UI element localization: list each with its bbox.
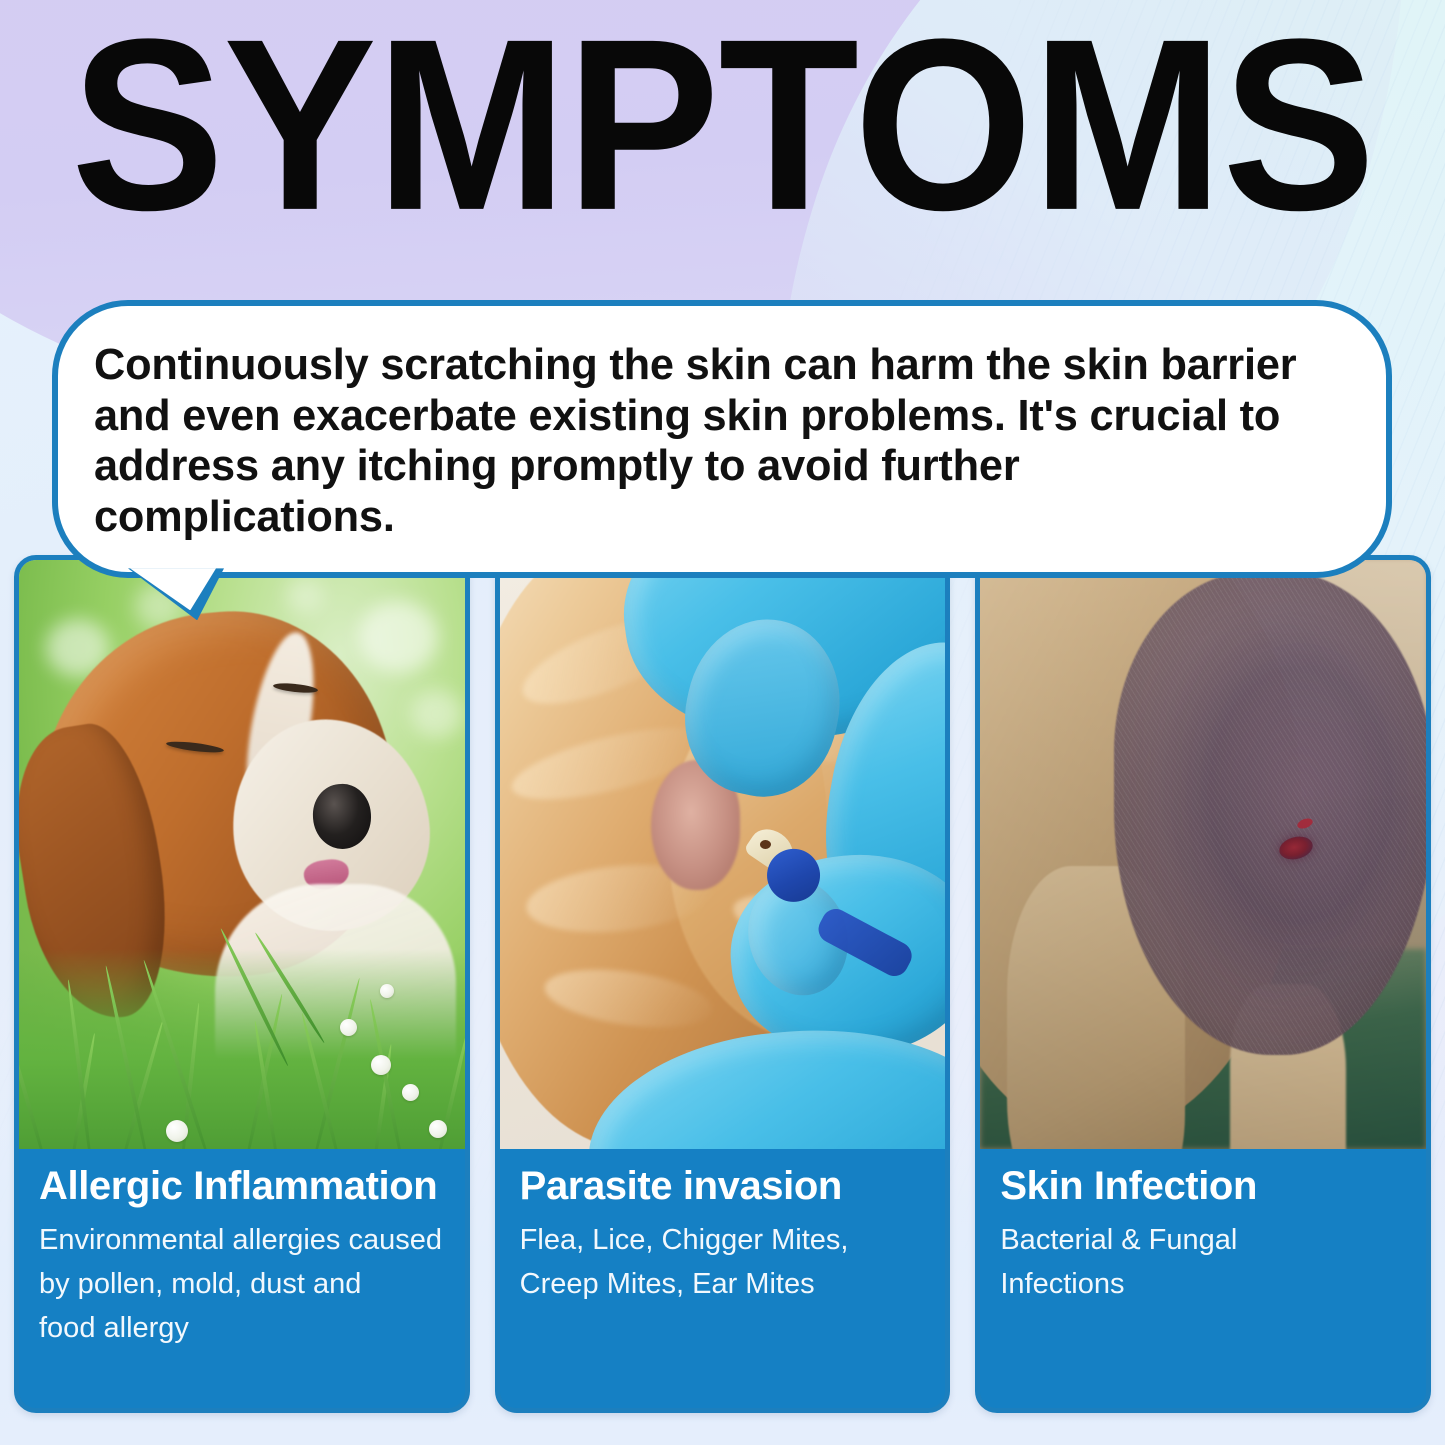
- card-caption-allergic-inflammation: Allergic Inflammation Environmental alle…: [19, 1149, 465, 1408]
- card-caption-parasite-invasion: Parasite invasion Flea, Lice, Chigger Mi…: [500, 1149, 946, 1408]
- symptom-card-parasite-invasion[interactable]: Parasite invasion Flea, Lice, Chigger Mi…: [495, 555, 951, 1413]
- photo-dog-leg-skin-infection: [980, 560, 1426, 1149]
- callout-bubble: Continuously scratching the skin can har…: [52, 300, 1392, 578]
- symptom-card-allergic-inflammation[interactable]: Allergic Inflammation Environmental alle…: [14, 555, 470, 1413]
- card-title: Allergic Inflammation: [39, 1165, 445, 1208]
- page-title: SYMPTOMS: [0, 16, 1445, 236]
- card-photo-parasite-invasion: [500, 560, 946, 1149]
- card-body: Environmental allergies caused by pollen…: [39, 1218, 445, 1350]
- card-photo-skin-infection: [980, 560, 1426, 1149]
- card-title: Parasite invasion: [520, 1165, 926, 1208]
- callout-bubble-body: Continuously scratching the skin can har…: [52, 300, 1392, 578]
- symptom-card-skin-infection[interactable]: Skin Infection Bacterial & Fungal Infect…: [975, 555, 1431, 1413]
- card-body: Flea, Lice, Chigger Mites, Creep Mites, …: [520, 1218, 926, 1306]
- card-caption-skin-infection: Skin Infection Bacterial & Fungal Infect…: [980, 1149, 1426, 1408]
- photo-gloved-hands-treating-dog: [500, 560, 946, 1149]
- card-title: Skin Infection: [1000, 1165, 1406, 1208]
- symptom-card-list: Allergic Inflammation Environmental alle…: [14, 555, 1431, 1413]
- card-body: Bacterial & Fungal Infections: [1000, 1218, 1406, 1306]
- card-photo-allergic-inflammation: [19, 560, 465, 1149]
- callout-text: Continuously scratching the skin can har…: [94, 340, 1327, 542]
- page-title-text: SYMPTOMS: [71, 21, 1375, 231]
- photo-beagle-in-grass: [19, 560, 465, 1149]
